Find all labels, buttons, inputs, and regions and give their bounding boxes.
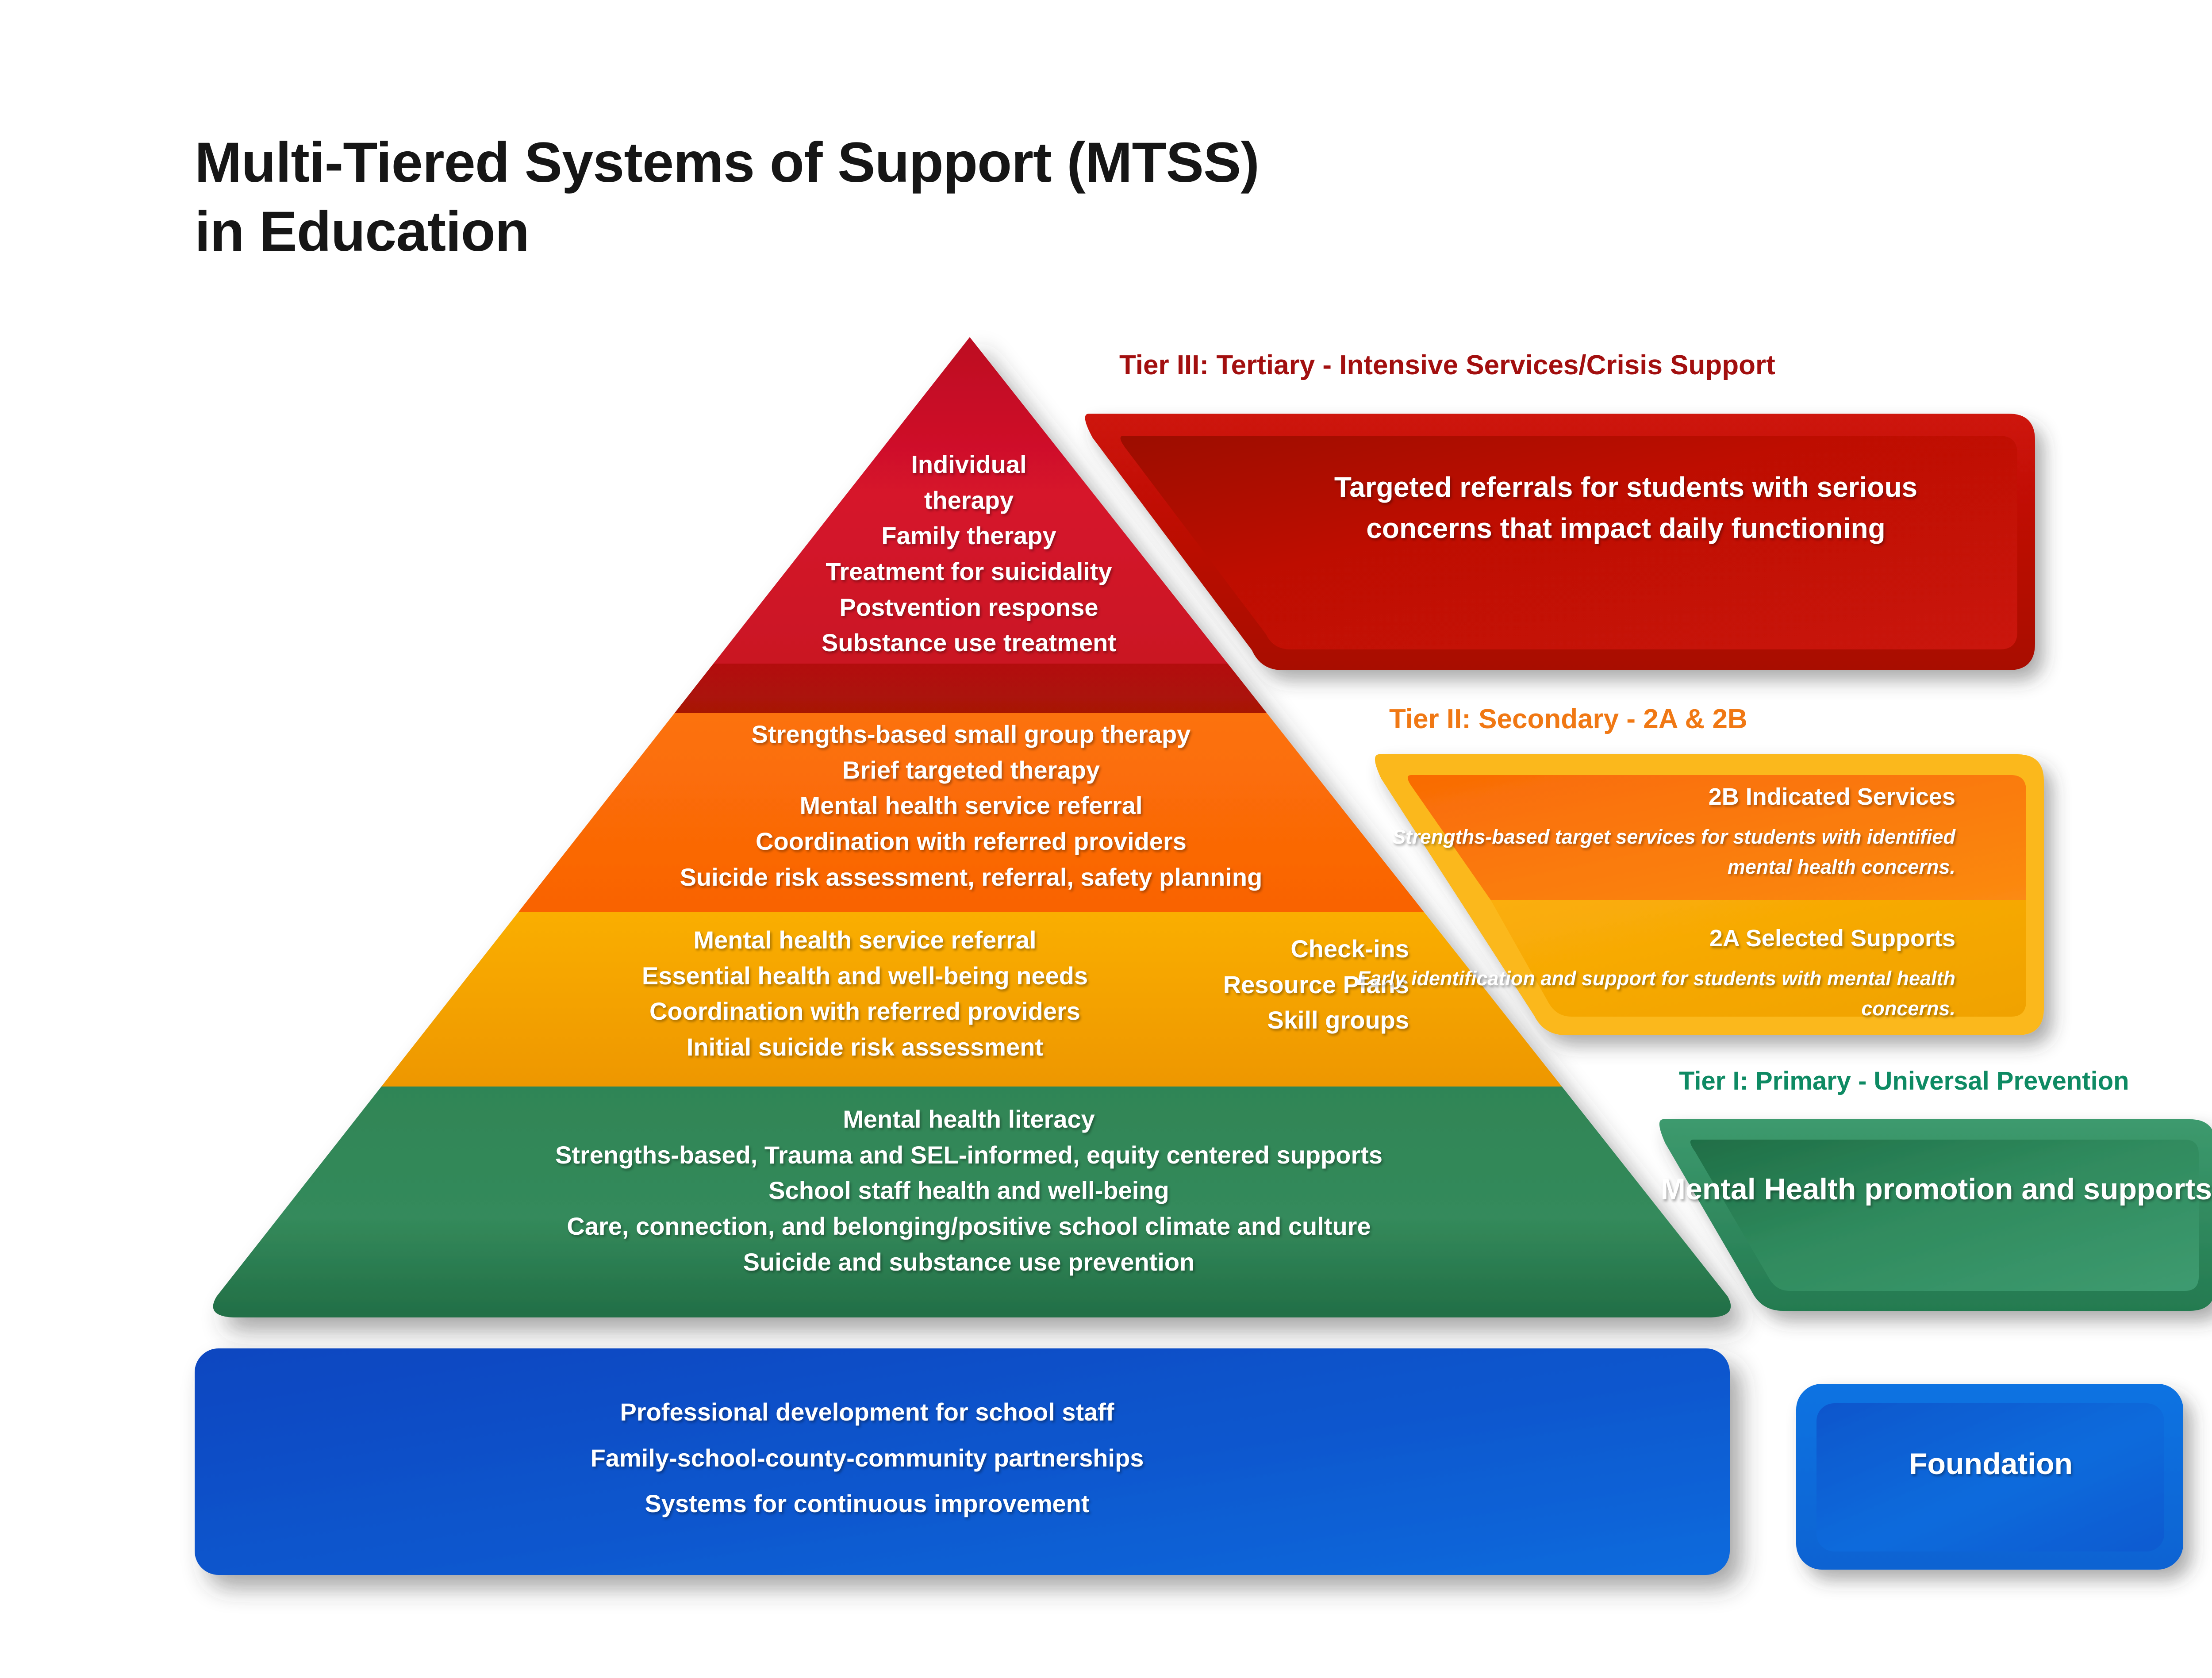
tier2a-line: Coordination with referred providers [467,994,1263,1029]
foundation-bar-text: Professional development for school staf… [248,1389,1486,1527]
tier2a-callout-body: Early identification and support for stu… [1323,964,1955,1023]
tier2b-line: Suicide risk assessment, referral, safet… [566,860,1376,895]
pyramid-tier1-text: Mental health literacy Strengths-based, … [310,1102,1628,1280]
tier2b-line: Coordination with referred providers [566,824,1376,860]
foundation-line: Professional development for school staf… [248,1389,1486,1435]
tier3-line: Substance use treatment [690,625,1248,661]
tier2a-line: Essential health and well-being needs [467,958,1263,994]
tier3-line: Individual [690,447,1248,483]
tier2b-line: Brief targeted therapy [566,753,1376,788]
tier1-line: School staff health and well-being [310,1173,1628,1209]
page-title-line2: in Education [195,197,1832,266]
page-title-line1: Multi-Tiered Systems of Support (MTSS) [195,131,1259,194]
tier1-callout-shape [1659,1119,2212,1311]
tier1-heading: Tier I: Primary - Universal Prevention [1679,1066,2129,1096]
tier3-line: Postvention response [690,590,1248,626]
tier3-heading: Tier III: Tertiary - Intensive Services/… [1119,349,1775,381]
tier3-callout-body: Targeted referrals for students with ser… [1310,467,1942,549]
pyramid-tier2a-text: Mental health service referral Essential… [467,922,1263,1065]
tier2a-line: Initial suicide risk assessment [467,1029,1263,1065]
tier2b-line: Strengths-based small group therapy [566,717,1376,753]
tier1-line: Suicide and substance use prevention [310,1244,1628,1280]
tier2b-line: Mental health service referral [566,788,1376,824]
pyramid-tier3-text: Individual therapy Family therapy Treatm… [690,447,1248,661]
tier3-line: Family therapy [690,518,1248,554]
tier1-callout-body: Mental Health promotion and supports [1637,1168,2212,1211]
foundation-callout-label: Foundation [1805,1447,2177,1481]
tier1-line: Strengths-based, Trauma and SEL-informed… [310,1137,1628,1173]
foundation-line: Family-school-county-community partnersh… [248,1435,1486,1481]
tier2-heading: Tier II: Secondary - 2A & 2B [1389,703,1747,735]
mtss-diagram-canvas: Multi-Tiered Systems of Support (MTSS) i… [0,0,2212,1678]
tier1-line: Care, connection, and belonging/positive… [310,1209,1628,1244]
tier2a-line: Mental health service referral [467,922,1263,958]
pyramid-tier2b-text: Strengths-based small group therapy Brie… [566,717,1376,895]
tier3-line: therapy [690,483,1248,518]
tier3-line: Treatment for suicidality [690,554,1248,590]
tier2b-callout-title: 2B Indicated Services [1367,783,1955,810]
tier1-line: Mental health literacy [310,1102,1628,1137]
page-title: Multi-Tiered Systems of Support (MTSS) i… [195,128,1832,266]
tier2b-callout-body: Strengths-based target services for stud… [1323,822,1955,882]
tier2a-callout-title: 2A Selected Supports [1367,925,1955,952]
foundation-line: Systems for continuous improvement [248,1481,1486,1527]
